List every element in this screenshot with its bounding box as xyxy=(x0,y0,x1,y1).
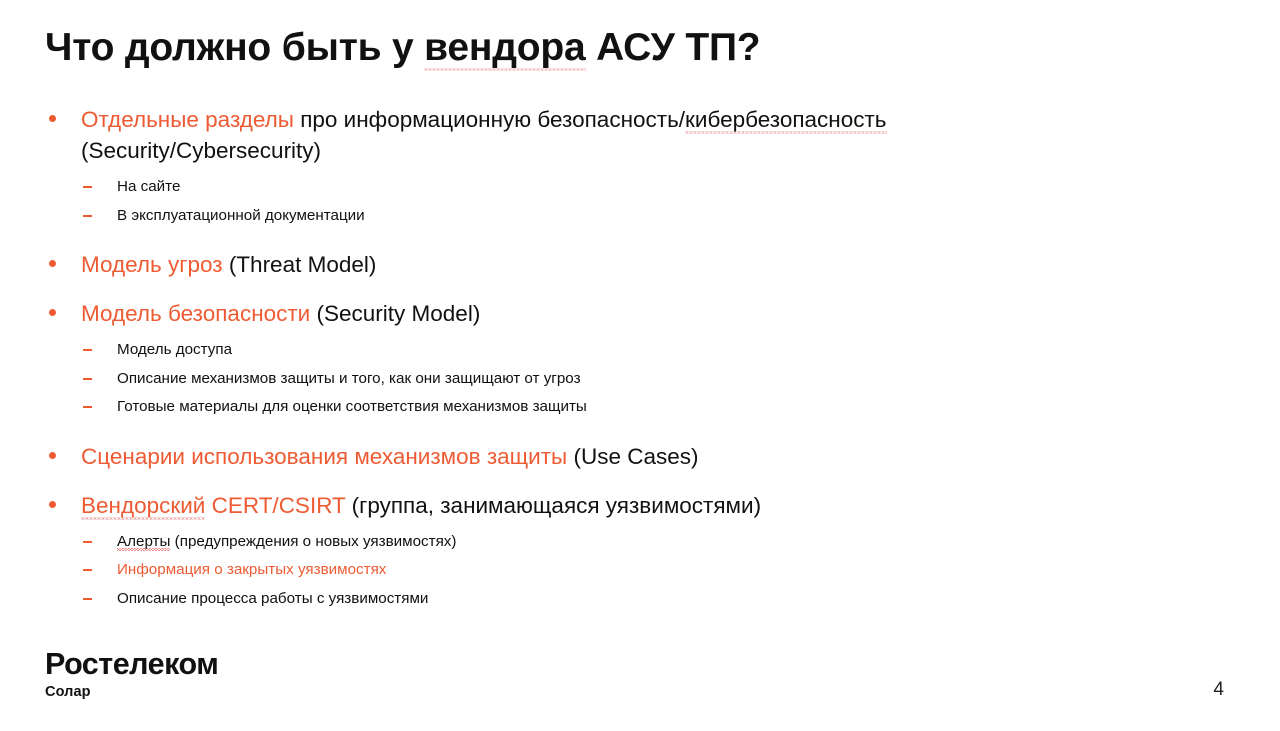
bullet-5-accent-text: CERT/CSIRT xyxy=(205,493,345,518)
dash-icon xyxy=(83,598,92,600)
sub-bullet-label: Описание механизмов защиты и того, как о… xyxy=(117,370,581,387)
sub-bullet-item: Алерты (предупреждения о новых уязвимост… xyxy=(45,528,1235,557)
bullet-dot-icon xyxy=(49,115,56,122)
bullet-5-misspelled-accent-text: Вендорский xyxy=(81,493,205,520)
logo-primary-text: Ростелеком xyxy=(45,649,218,680)
bullet-item-2: Модель угроз (Threat Model) xyxy=(45,249,1235,280)
sublist-1: На сайте В эксплуатационной документации xyxy=(45,173,1235,230)
dash-icon xyxy=(83,186,92,188)
sub-bullet-label: Готовые материалы для оценки соответстви… xyxy=(117,398,587,415)
sublist-3: Модель доступа Описание механизмов защит… xyxy=(45,336,1235,422)
title-misspelled-word: вендора xyxy=(424,26,585,71)
page-title: Что должно быть у вендора АСУ ТП? xyxy=(45,26,760,71)
bullet-dot-icon xyxy=(49,260,56,267)
bullet-1-rest-text: про информационную безопасность/ xyxy=(294,107,685,132)
bullet-item-4: Сценарии использования механизмов защиты… xyxy=(45,441,1235,472)
sub-bullet-label: Информация о закрытых уязвимостях xyxy=(117,561,386,578)
sublist-5: Алерты (предупреждения о новых уязвимост… xyxy=(45,528,1235,614)
dash-icon xyxy=(83,215,92,217)
bullet-3-accent-text: Модель безопасности xyxy=(81,301,310,326)
dash-icon xyxy=(83,541,92,543)
dash-icon xyxy=(83,406,92,408)
bullet-1-accent-text: Отдельные разделы xyxy=(81,107,294,132)
dash-icon xyxy=(83,569,92,571)
bullet-2-accent-text: Модель угроз xyxy=(81,252,223,277)
sub-bullet-misspelled-word: Алерты xyxy=(117,533,170,551)
sub-bullet-item: В эксплуатационной документации xyxy=(45,202,1235,231)
bullet-1-misspelled-word: кибербезопасность xyxy=(685,107,886,134)
sub-bullet-item: Описание механизмов защиты и того, как о… xyxy=(45,365,1235,394)
sub-bullet-item: На сайте xyxy=(45,173,1235,202)
sub-bullet-item: Готовые материалы для оценки соответстви… xyxy=(45,393,1235,422)
slide-body: Отдельные разделы про информационную без… xyxy=(45,104,1235,613)
title-text-part-1: Что должно быть у xyxy=(45,26,424,69)
dash-icon xyxy=(83,349,92,351)
logo-secondary-text: Солар xyxy=(45,685,218,700)
sub-bullet-label: Описание процесса работы с уязвимостями xyxy=(117,590,428,607)
bullet-1-second-line: (Security/Cybersecurity) xyxy=(81,138,321,163)
bullet-item-3: Модель безопасности (Security Model) xyxy=(45,298,1235,329)
sub-bullet-item: Описание процесса работы с уязвимостями xyxy=(45,585,1235,614)
bullet-4-rest-text: (Use Cases) xyxy=(567,444,698,469)
sub-bullet-item: Информация о закрытых уязвимостях xyxy=(45,556,1235,585)
dash-icon xyxy=(83,378,92,380)
sub-bullet-item: Модель доступа xyxy=(45,336,1235,365)
bullet-5-rest-text: (группа, занимающаяся уязвимостями) xyxy=(345,493,761,518)
bullet-3-rest-text: (Security Model) xyxy=(310,301,480,326)
sub-bullet-label: На сайте xyxy=(117,178,180,195)
sub-bullet-label: Модель доступа xyxy=(117,341,232,358)
bullet-item-1: Отдельные разделы про информационную без… xyxy=(45,104,1235,166)
bullet-2-rest-text: (Threat Model) xyxy=(223,252,377,277)
presentation-slide: Что должно быть у вендора АСУ ТП? Отдель… xyxy=(0,0,1280,731)
bullet-dot-icon xyxy=(49,309,56,316)
page-number: 4 xyxy=(1213,679,1224,701)
bullet-4-accent-text: Сценарии использования механизмов защиты xyxy=(81,444,567,469)
bullet-dot-icon xyxy=(49,501,56,508)
title-text-part-2: АСУ ТП? xyxy=(586,26,761,69)
sub-bullet-label: (предупреждения о новых уязвимостях) xyxy=(170,533,456,550)
sub-bullet-label: В эксплуатационной документации xyxy=(117,207,365,224)
company-logo: Ростелеком Солар xyxy=(45,649,218,699)
bullet-dot-icon xyxy=(49,452,56,459)
bullet-item-5: Вендорский CERT/CSIRT (группа, занимающа… xyxy=(45,490,1235,521)
